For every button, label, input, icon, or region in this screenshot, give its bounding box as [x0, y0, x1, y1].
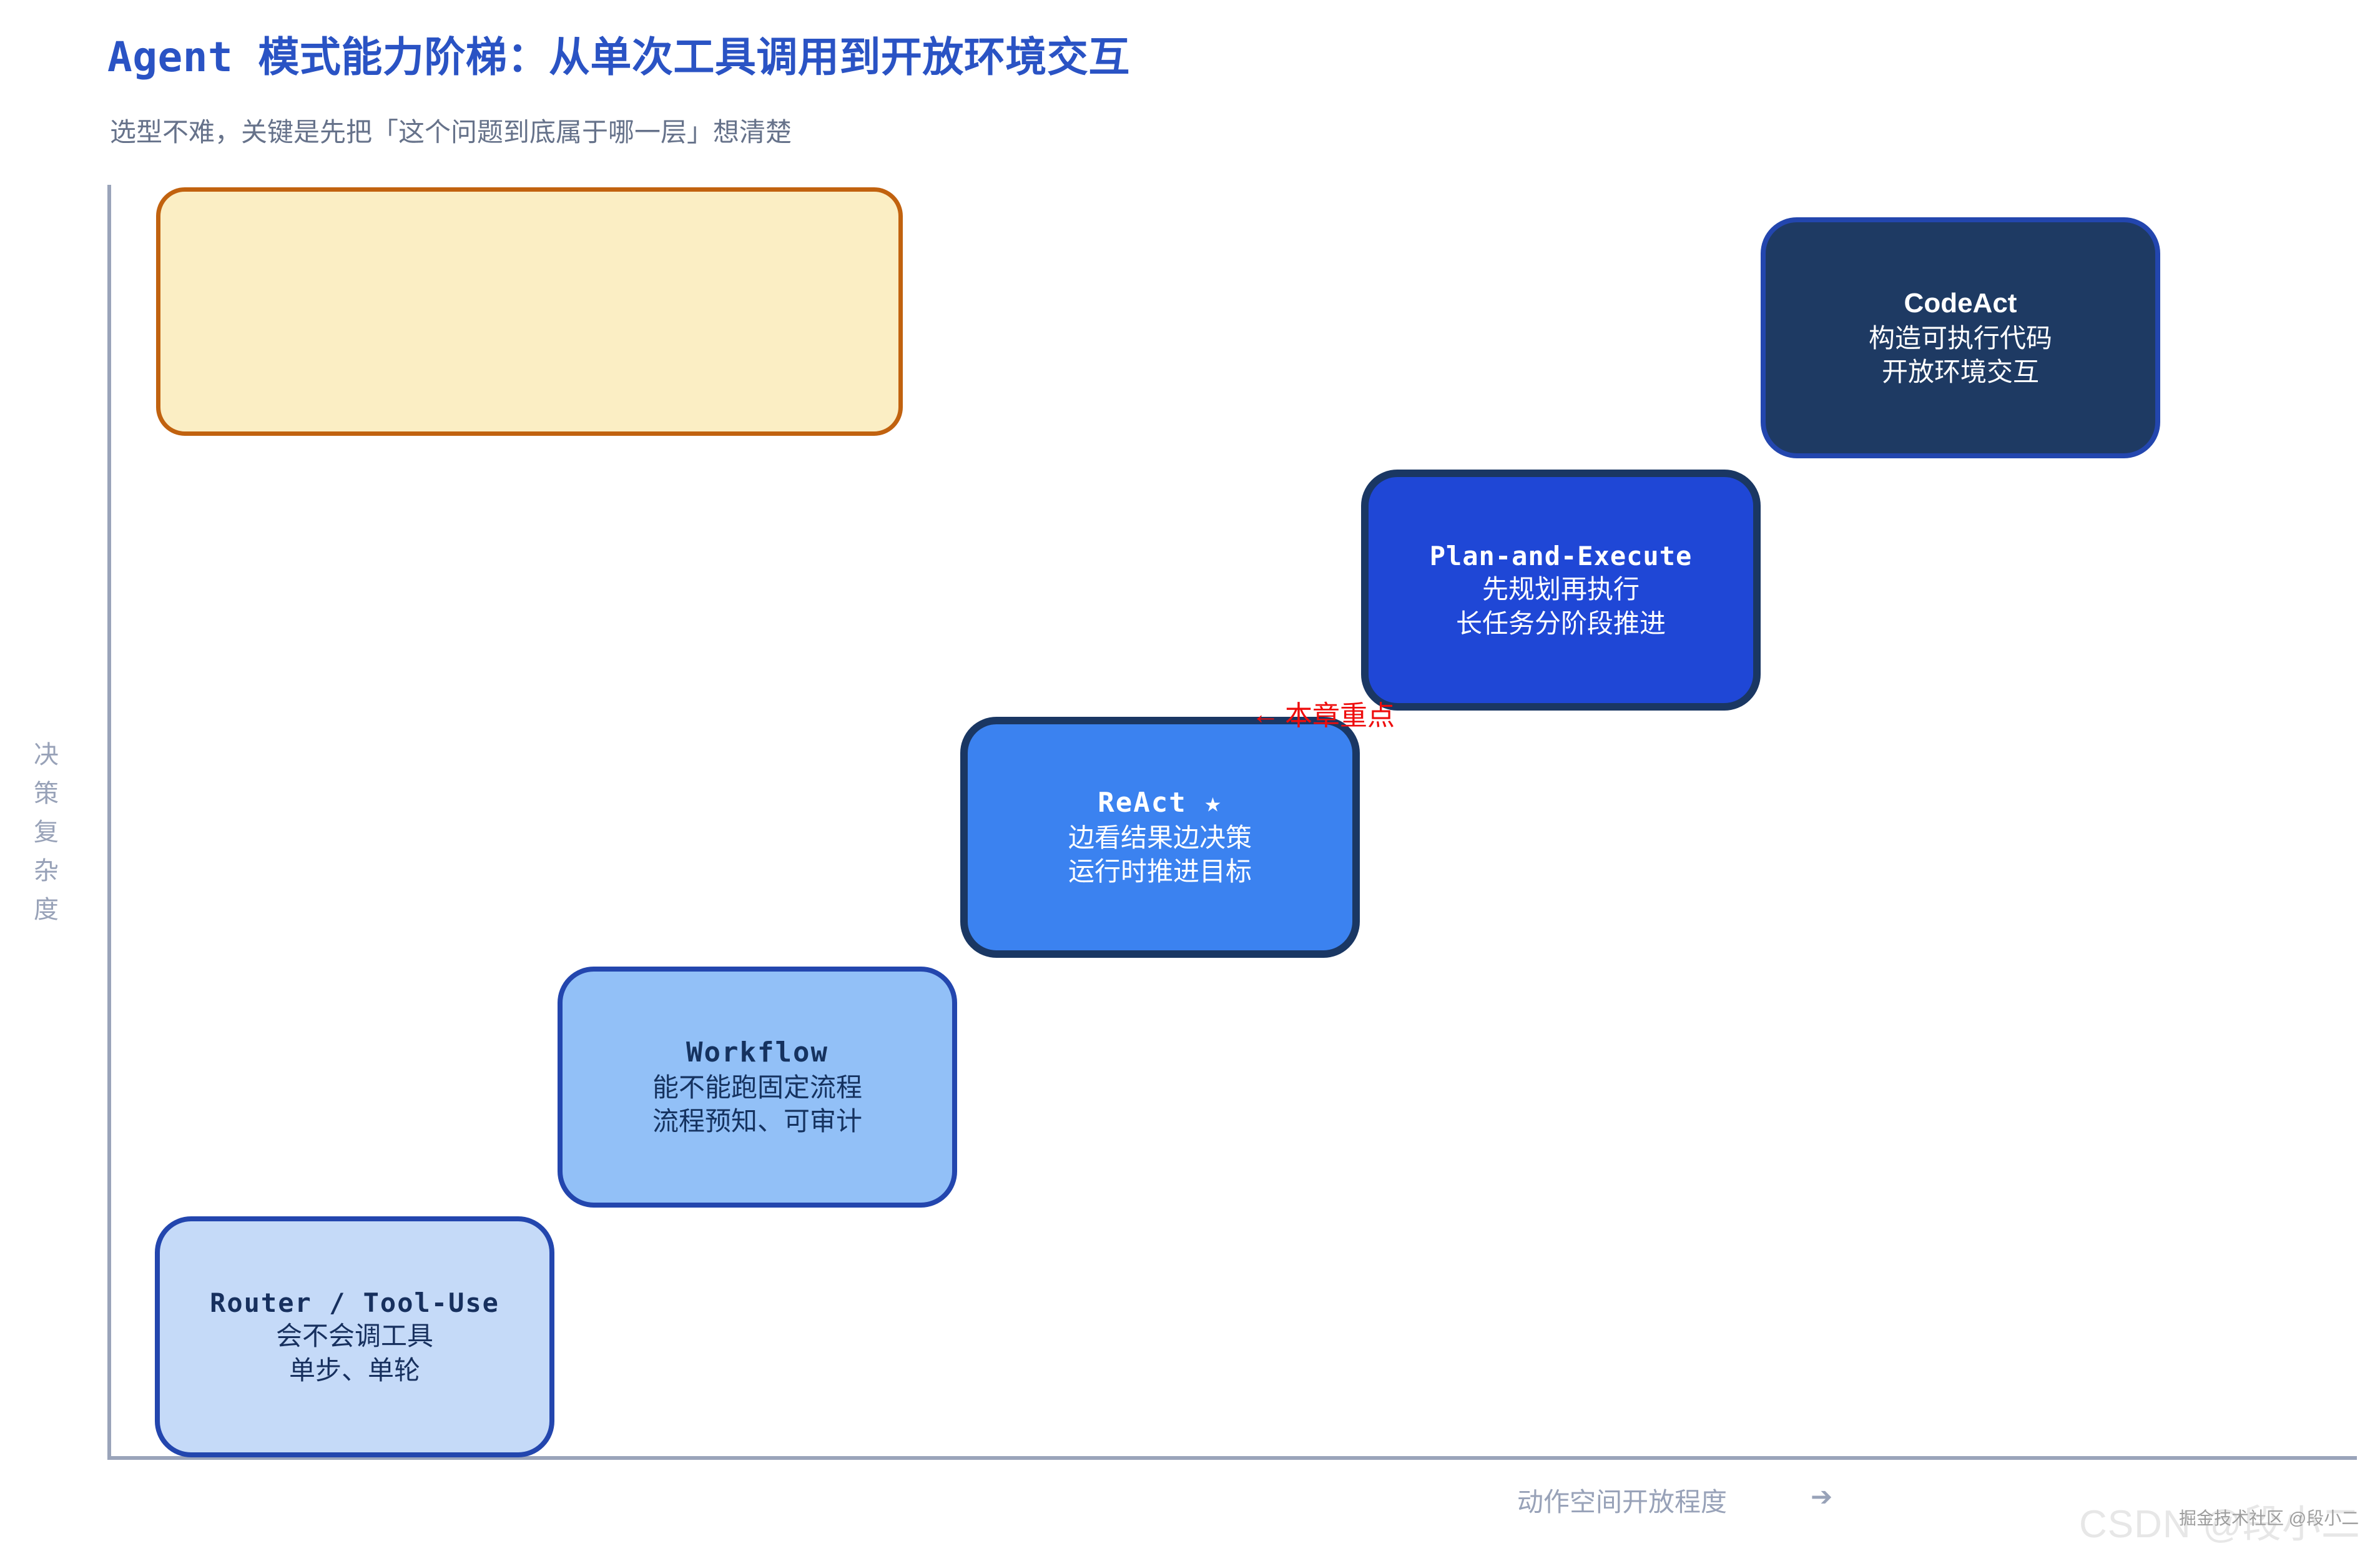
highlight-annotation: ← 本章重点 [1251, 693, 1395, 733]
y-axis-label-char-3: 复 [30, 813, 62, 852]
arrow-left-icon: ← [1251, 699, 1280, 728]
ladder-step-plan-and-execute[interactable]: Plan-and-Execute 先规划再执行 长任务分阶段推进 [1361, 470, 1761, 711]
y-axis-label: 决 策 复 杂 度 [30, 736, 62, 929]
ladder-step-line-1: 能不能跑固定流程 [652, 1071, 862, 1105]
ladder-step-line-2: 运行时推进目标 [1068, 855, 1252, 889]
callout-note-box [156, 187, 903, 436]
y-axis-line [107, 185, 111, 1460]
ladder-step-line-1: 先规划再执行 [1482, 573, 1640, 607]
y-axis-label-char-1: 决 [30, 736, 62, 774]
page-subtitle: 选型不难，关键是先把「这个问题到底属于哪一层」想清楚 [110, 111, 792, 149]
ladder-step-line-1: 边看结果边决策 [1068, 821, 1252, 855]
ladder-step-react[interactable]: ReAct ★ 边看结果边决策 运行时推进目标 [960, 717, 1360, 958]
page-title: Agent 模式能力阶梯：从单次工具调用到开放环境交互 [107, 24, 1130, 84]
ladder-step-title: Plan-and-Execute [1430, 539, 1693, 573]
watermark-juejin: 掘金技术社区 @段小二 [2179, 1505, 2359, 1530]
y-axis-label-char-4: 杂 [30, 852, 62, 890]
ladder-step-title: CodeAct [1904, 286, 2017, 321]
arrow-right-icon: ➔ [1811, 1481, 1832, 1512]
ladder-step-line-1: 构造可执行代码 [1869, 322, 2052, 356]
ladder-step-title: Workflow [686, 1035, 829, 1070]
x-axis-label: 动作空间开放程度 [1517, 1481, 1727, 1519]
ladder-step-title: Router / Tool-Use [210, 1286, 499, 1320]
ladder-step-line-1: 会不会调工具 [276, 1319, 433, 1354]
ladder-step-workflow[interactable]: Workflow 能不能跑固定流程 流程预知、可审计 [558, 967, 957, 1208]
y-axis-label-char-2: 策 [30, 774, 62, 813]
ladder-step-line-2: 单步、单轮 [289, 1354, 420, 1388]
ladder-step-line-2: 流程预知、可审计 [652, 1105, 862, 1139]
ladder-step-line-2: 开放环境交互 [1882, 355, 2039, 390]
ladder-step-title: ReAct ★ [1098, 785, 1222, 820]
ladder-step-codeact[interactable]: CodeAct 构造可执行代码 开放环境交互 [1761, 217, 2160, 458]
ladder-step-router-tool-use[interactable]: Router / Tool-Use 会不会调工具 单步、单轮 [155, 1216, 554, 1457]
ladder-step-line-2: 长任务分阶段推进 [1456, 607, 1666, 641]
highlight-annotation-label: 本章重点 [1285, 693, 1395, 733]
y-axis-label-char-5: 度 [30, 890, 62, 929]
